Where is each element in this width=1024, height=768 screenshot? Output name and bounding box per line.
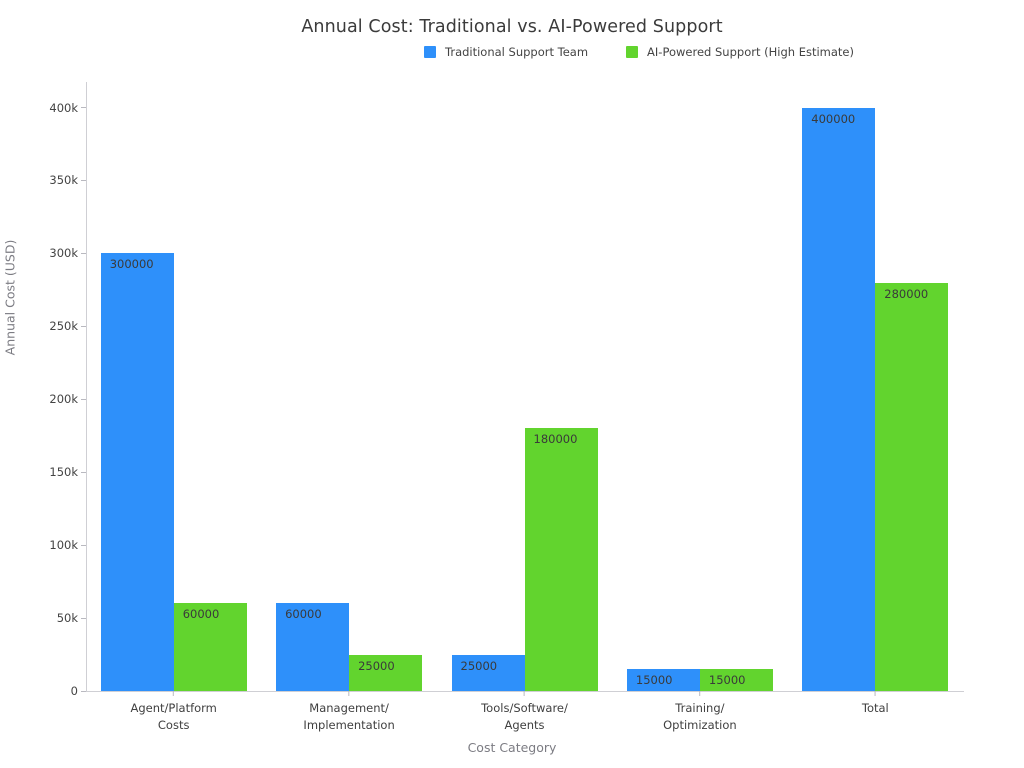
legend-swatch-blue [424,46,436,58]
x-tick-label: Management/Implementation [303,700,394,734]
bar-ai-powered[interactable]: 180000 [525,428,598,691]
y-tick-mark [81,399,86,400]
y-tick: 100k [49,538,86,552]
bar-traditional[interactable]: 300000 [101,253,174,691]
bar-ai-powered[interactable]: 25000 [349,655,422,691]
x-tick: Management/Implementation [303,691,394,734]
y-tick-mark [81,253,86,254]
y-tick-label: 100k [49,538,81,552]
y-tick-label: 50k [57,611,81,625]
x-tick: Training/Optimization [663,691,737,734]
x-axis-title: Cost Category [0,740,1024,755]
bar-value-label: 180000 [534,432,578,446]
chart-legend: Traditional Support Team AI-Powered Supp… [0,45,1024,59]
y-tick: 250k [49,319,86,333]
bar-ai-powered[interactable]: 15000 [700,669,773,691]
y-tick: 50k [57,611,86,625]
legend-item-traditional-support-team[interactable]: Traditional Support Team [424,45,588,59]
legend-item-ai-powered-support[interactable]: AI-Powered Support (High Estimate) [626,45,854,59]
legend-label-ai-powered-support: AI-Powered Support (High Estimate) [647,45,854,59]
y-tick-mark [81,180,86,181]
y-tick-mark [81,545,86,546]
bar-value-label: 300000 [110,257,154,271]
bar-traditional[interactable]: 400000 [802,108,875,691]
bar-value-label: 15000 [636,673,673,687]
bar-value-label: 60000 [183,607,220,621]
bar-ai-powered[interactable]: 280000 [875,283,948,691]
x-tick: Total [862,691,889,717]
y-tick-label: 250k [49,319,81,333]
y-tick-mark [81,326,86,327]
bar-traditional[interactable]: 60000 [276,603,349,691]
x-tick-mark [699,691,700,696]
chart-title: Annual Cost: Traditional vs. AI-Powered … [0,17,1024,37]
y-tick-label: 200k [49,392,81,406]
y-tick: 300k [49,246,86,260]
y-tick-label: 300k [49,246,81,260]
x-tick: Agent/PlatformCosts [130,691,216,734]
legend-label-traditional-support-team: Traditional Support Team [445,45,588,59]
bar-traditional[interactable]: 25000 [452,655,525,691]
bar-value-label: 25000 [358,659,395,673]
x-tick-label: Tools/Software/Agents [481,700,568,734]
x-tick-mark [875,691,876,696]
y-tick: 400k [49,101,86,115]
y-tick-mark [81,107,86,108]
y-tick: 200k [49,392,86,406]
y-tick: 350k [49,173,86,187]
y-tick-label: 400k [49,101,81,115]
x-tick-mark [173,691,174,696]
chart-figure: Annual Cost: Traditional vs. AI-Powered … [0,0,1024,768]
y-tick-mark [81,618,86,619]
x-tick-mark [524,691,525,696]
bar-value-label: 400000 [811,112,855,126]
bar-value-label: 15000 [709,673,746,687]
plot-area: 050k100k150k200k250k300k350k400k Agent/P… [86,82,963,691]
y-tick-label: 150k [49,465,81,479]
bar-value-label: 280000 [884,287,928,301]
bar-ai-powered[interactable]: 60000 [174,603,247,691]
bar-value-label: 25000 [461,659,498,673]
y-tick-label: 350k [49,173,81,187]
y-tick-mark [81,472,86,473]
x-tick-label: Total [862,700,889,717]
x-tick-label: Training/Optimization [663,700,737,734]
x-tick-mark [349,691,350,696]
y-tick-label: 0 [71,684,81,698]
x-tick-label: Agent/PlatformCosts [130,700,216,734]
y-tick: 0 [71,684,86,698]
y-axis-title: Annual Cost (USD) [3,198,18,398]
x-tick: Tools/Software/Agents [481,691,568,734]
bar-traditional[interactable]: 15000 [627,669,700,691]
y-tick-mark [81,691,86,692]
legend-swatch-green [626,46,638,58]
y-tick: 150k [49,465,86,479]
bar-value-label: 60000 [285,607,322,621]
